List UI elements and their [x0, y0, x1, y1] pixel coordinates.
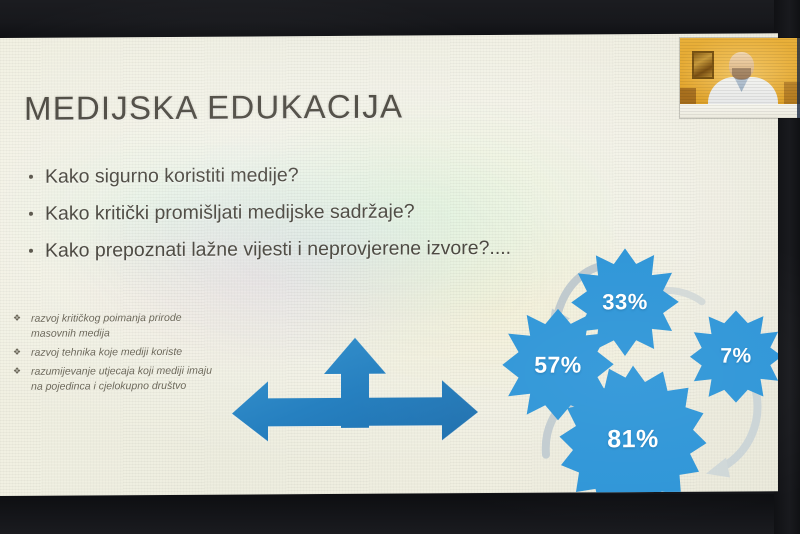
diamond-bullet-icon: ❖: [13, 348, 21, 356]
diamond-bullet-icon: ❖: [13, 367, 21, 375]
bullet-dot-icon: [29, 175, 33, 179]
three-way-arrow-icon: [228, 335, 482, 445]
video-desk: [680, 104, 800, 118]
list-item: Kako kritički promišljati medijske sadrž…: [24, 199, 584, 225]
bullet-text: Kako sigurno koristiti medije?: [45, 164, 299, 188]
bullet-dot-icon: [29, 212, 33, 216]
diamond-bullet-icon: ❖: [13, 314, 21, 322]
list-item: Kako prepoznati lažne vijesti i neprovje…: [24, 236, 584, 262]
presenter-video-tile[interactable]: [680, 38, 800, 118]
list-item: ❖ razvoj kritičkog poimanja prirode maso…: [8, 311, 223, 342]
presentation-slide: MEDIJSKA EDUKACIJA Kako sigurno koristit…: [0, 33, 778, 496]
bullet-dot-icon: [29, 249, 33, 253]
sublist-text: razumijevanje utjecaja koji mediji imaju…: [31, 364, 212, 392]
gear-shape-81: 81%: [558, 364, 708, 496]
sublist-text: razvoj kritičkog poimanja prirode masovn…: [31, 312, 182, 340]
bullet-list: Kako sigurno koristiti medije? Kako krit…: [24, 162, 584, 276]
video-object-left: [680, 88, 696, 104]
sublist-text: razvoj tehnika koje mediji koriste: [31, 346, 182, 359]
bullet-text: Kako prepoznati lažne vijesti i neprovje…: [45, 237, 511, 262]
wall-picture-frame: [692, 51, 714, 79]
screen-bezel-bottom: [0, 494, 800, 534]
list-item: ❖ razumijevanje utjecaja koji mediji ima…: [8, 363, 223, 394]
list-item: ❖ razvoj tehnika koje mediji koriste: [8, 344, 223, 360]
presenter-beard: [732, 68, 751, 80]
page-title: MEDIJSKA EDUKACIJA: [24, 88, 403, 128]
bullet-text: Kako kritički promišljati medijske sadrž…: [45, 200, 415, 224]
list-item: Kako sigurno koristiti medije?: [24, 162, 584, 188]
secondary-bullet-list: ❖ razvoj kritičkog poimanja prirode maso…: [8, 311, 223, 399]
screenshot-stage: MEDIJSKA EDUKACIJA Kako sigurno koristit…: [0, 0, 800, 534]
